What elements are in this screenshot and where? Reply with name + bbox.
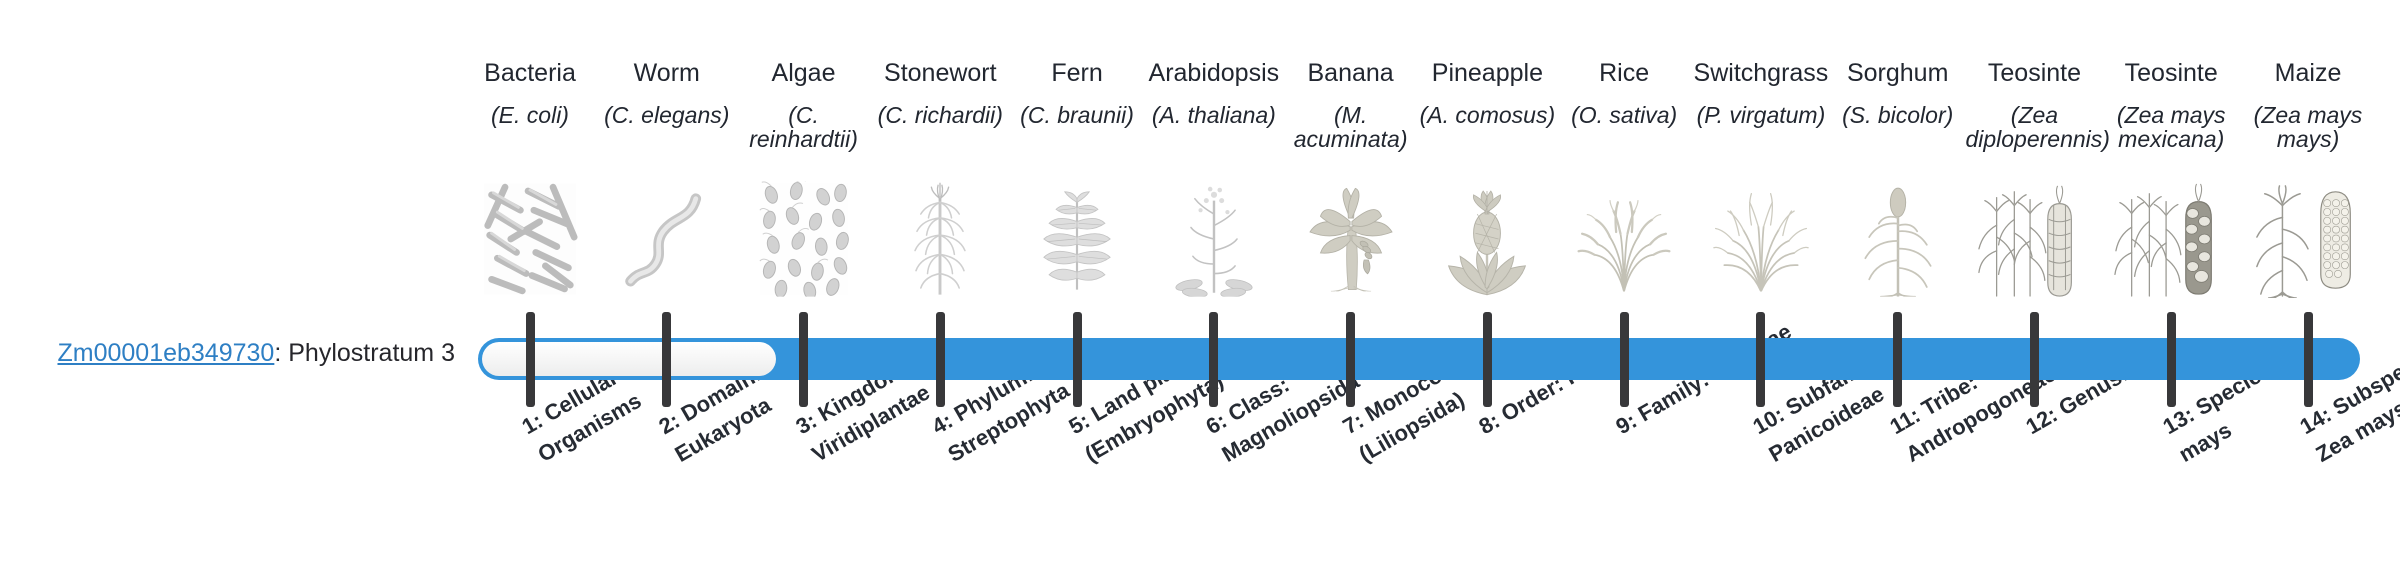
organism-illustration xyxy=(1418,178,1556,298)
species-column-11: Sorghum(S. bicolor)11: Tribe: Andropogon… xyxy=(1829,0,1967,580)
stratum-tick-5 xyxy=(1073,312,1082,407)
organism-illustration xyxy=(2102,178,2240,298)
species-common-name: Arabidopsis xyxy=(1145,60,1283,86)
species-common-name: Fern xyxy=(1008,60,1146,86)
species-scientific-name: (E. coli) xyxy=(461,103,599,127)
stratum-tick-1 xyxy=(526,312,535,407)
species-scientific-name: (C. braunii) xyxy=(1008,103,1146,127)
species-scientific-name: (C. reinhardtii) xyxy=(735,103,873,152)
species-column-2: Worm(C. elegans)2: Domain: Eukaryota xyxy=(598,0,736,580)
species-common-name: Algae xyxy=(735,60,873,86)
species-common-name: Maize xyxy=(2239,60,2377,86)
species-scientific-name: (Zea mays mays) xyxy=(2239,103,2377,152)
species-common-name: Sorghum xyxy=(1829,60,1967,86)
species-scientific-name: (P. virgatum) xyxy=(1692,103,1830,127)
species-common-name: Teosinte xyxy=(1965,60,2103,86)
stratum-tick-6 xyxy=(1209,312,1218,407)
stratum-tick-10 xyxy=(1756,312,1765,407)
species-common-name: Switchgrass xyxy=(1692,60,1830,86)
organism-illustration xyxy=(461,178,599,298)
species-common-name: Pineapple xyxy=(1418,60,1556,86)
species-common-name: Worm xyxy=(598,60,736,86)
phylostratum-value: Phylostratum 3 xyxy=(288,339,455,367)
phylostratum-progress-bar[interactable] xyxy=(478,338,2360,380)
species-column-8: Pineapple(A. comosus)8: Order: Poales xyxy=(1418,0,1556,580)
species-scientific-name: (A. comosus) xyxy=(1418,103,1556,127)
gene-label-separator: : xyxy=(274,339,288,367)
species-common-name: Banana xyxy=(1282,60,1420,86)
banana-plant-icon xyxy=(1303,180,1399,298)
species-scientific-name: (C. richardii) xyxy=(871,103,1009,127)
stratum-tick-4 xyxy=(936,312,945,407)
species-column-3: Algae(C. reinhardtii)3: Kingdom: Viridip… xyxy=(735,0,873,580)
stratum-tick-11 xyxy=(1893,312,1902,407)
stratum-tick-8 xyxy=(1483,312,1492,407)
species-scientific-name: (C. elegans) xyxy=(598,103,736,127)
species-columns: Bacteria(E. coli)1: Cellular OrganismsWo… xyxy=(478,0,2360,580)
species-common-name: Rice xyxy=(1555,60,1693,86)
species-column-9: Rice(O. sativa)9: Family: Poaceae xyxy=(1555,0,1693,580)
stratum-tick-2 xyxy=(662,312,671,407)
species-column-1: Bacteria(E. coli)1: Cellular Organisms xyxy=(461,0,599,580)
species-scientific-name: (A. thaliana) xyxy=(1145,103,1283,127)
gene-id-link[interactable]: Zm00001eb349730 xyxy=(57,339,274,367)
organism-illustration xyxy=(598,178,736,298)
organism-illustration xyxy=(1829,178,1967,298)
species-column-10: Switchgrass(P. virgatum)10: Subfamily: P… xyxy=(1692,0,1830,580)
species-scientific-name: (S. bicolor) xyxy=(1829,103,1967,127)
sorghum-plant-icon xyxy=(1850,180,1946,298)
species-column-5: Fern(C. braunii)5: Land plants (Embryoph… xyxy=(1008,0,1146,580)
organism-illustration xyxy=(1965,178,2103,298)
organism-illustration xyxy=(1692,178,1830,298)
species-scientific-name: (Zea mays mexicana) xyxy=(2102,103,2240,152)
organism-illustration xyxy=(871,178,1009,298)
species-scientific-name: (Zea diploperennis) xyxy=(1965,103,2103,152)
stratum-tick-3 xyxy=(799,312,808,407)
stonewort-alga-icon xyxy=(892,180,988,298)
species-scientific-name: (O. sativa) xyxy=(1555,103,1693,127)
species-column-7: Banana(M. acuminata)7: Monocots (Liliops… xyxy=(1282,0,1420,580)
gene-phylostratum-label: Zm00001eb349730: Phylostratum 3 xyxy=(0,340,455,368)
switchgrass-plant-icon xyxy=(1713,180,1809,298)
pineapple-plant-icon xyxy=(1439,180,1535,298)
stratum-tick-12 xyxy=(2030,312,2039,407)
species-column-14: Maize(Zea mays mays)14: Subspecies: Zea … xyxy=(2239,0,2377,580)
teosinte-plant-and-ear-icon xyxy=(1975,180,2093,298)
organism-illustration xyxy=(2239,178,2377,298)
bacteria-rods-icon xyxy=(482,180,578,298)
stratum-tick-9 xyxy=(1620,312,1629,407)
rice-plant-icon xyxy=(1576,180,1672,298)
organism-illustration xyxy=(1008,178,1146,298)
organism-illustration xyxy=(1555,178,1693,298)
species-column-12: Teosinte(Zea diploperennis)12: Genus: Ze… xyxy=(1965,0,2103,580)
species-common-name: Stonewort xyxy=(871,60,1009,86)
green-algae-cells-icon xyxy=(756,180,852,298)
organism-illustration xyxy=(1282,178,1420,298)
species-scientific-name: (M. acuminata) xyxy=(1282,103,1420,152)
stratum-tick-13 xyxy=(2167,312,2176,407)
organism-illustration xyxy=(735,178,873,298)
species-column-6: Arabidopsis(A. thaliana)6: Class: Magnol… xyxy=(1145,0,1283,580)
stratum-tick-14 xyxy=(2304,312,2313,407)
teosinte-mexicana-plant-and-ear-icon xyxy=(2112,180,2230,298)
nematode-worm-icon xyxy=(619,180,715,298)
species-common-name: Bacteria xyxy=(461,60,599,86)
stratum-tick-7 xyxy=(1346,312,1355,407)
species-column-13: Teosinte(Zea mays mexicana)13: Species: … xyxy=(2102,0,2240,580)
maize-plant-and-cob-icon xyxy=(2249,180,2367,298)
organism-illustration xyxy=(1145,178,1283,298)
phylostratigraphy-figure: Zm00001eb349730: Phylostratum 3 Bacteria… xyxy=(0,0,2400,580)
species-common-name: Teosinte xyxy=(2102,60,2240,86)
fern-frond-icon xyxy=(1029,180,1125,298)
species-column-4: Stonewort(C. richardii)4: Phylum: Strept… xyxy=(871,0,1009,580)
arabidopsis-rosette-icon xyxy=(1166,180,1262,298)
